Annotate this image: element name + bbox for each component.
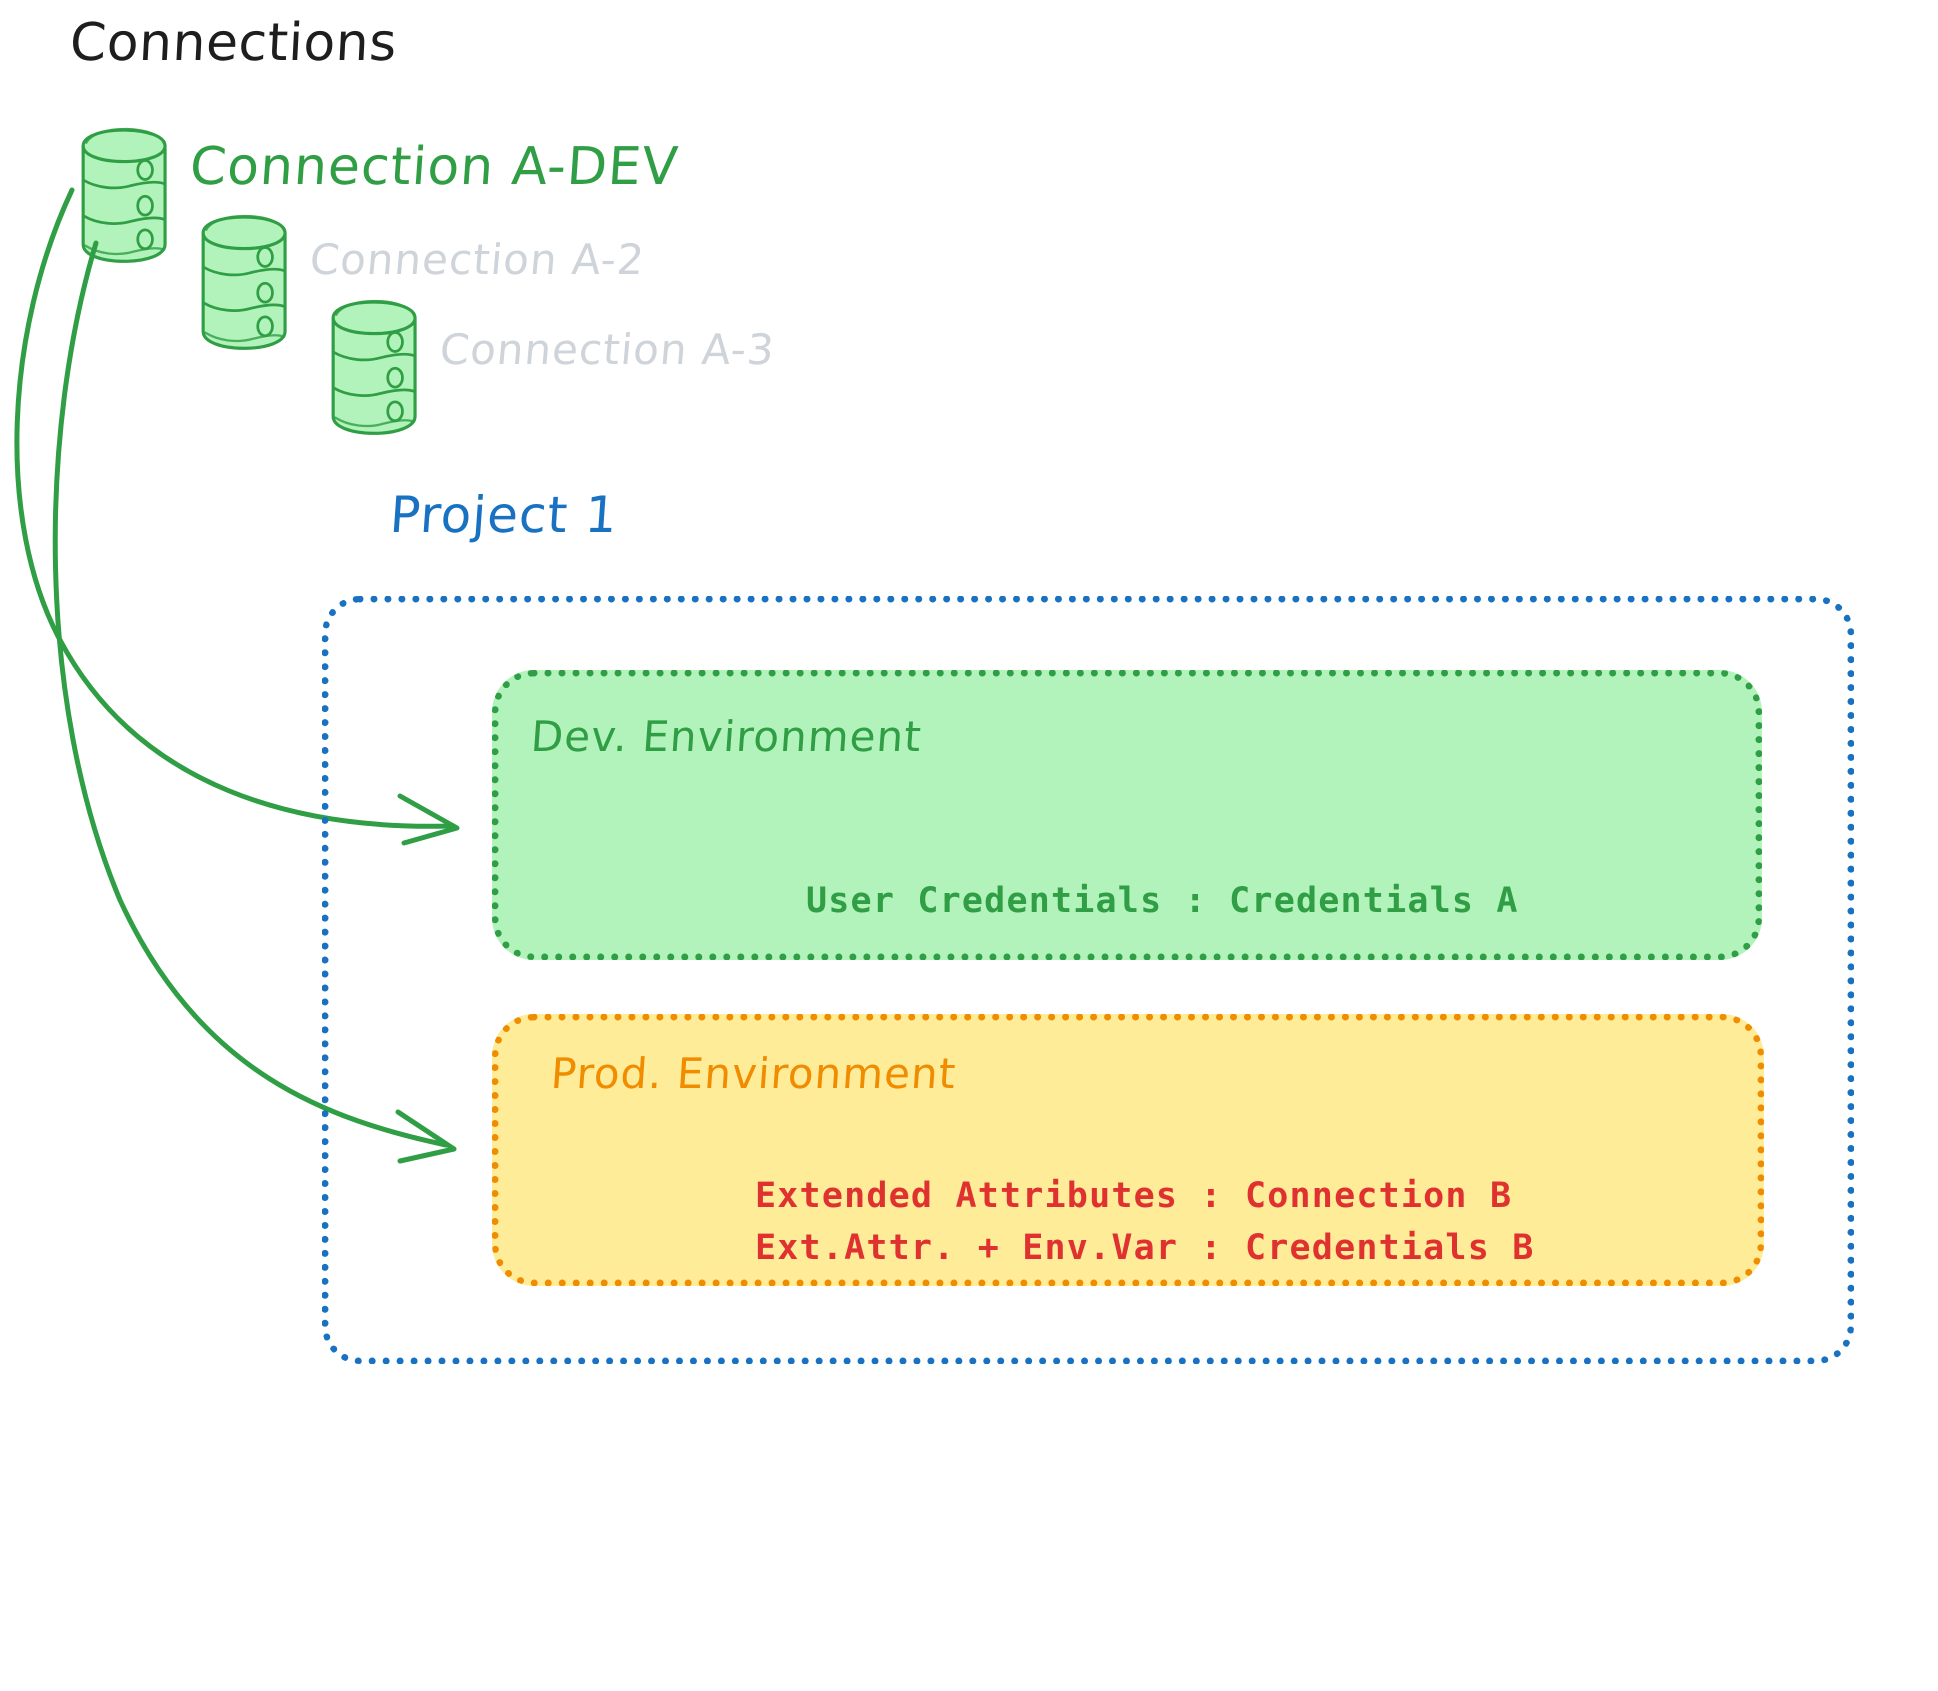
- connection-label-a-3: Connection A-3: [438, 326, 777, 374]
- connection-label-a-2: Connection A-2: [308, 236, 647, 284]
- page-title: Connections: [68, 14, 398, 74]
- project-title: Project 1: [388, 487, 620, 545]
- dev-environment-title: Dev. Environment: [529, 713, 923, 761]
- prod-environment-entry-extended-attributes: Extended Attributes : Connection B: [755, 1176, 1512, 1216]
- prod-environment-entry-ext-attr-env-var: Ext.Attr. + Env.Var : Credentials B: [755, 1228, 1535, 1268]
- database-icon-connection-a-3[interactable]: [333, 301, 415, 433]
- prod-environment-title: Prod. Environment: [549, 1050, 958, 1098]
- database-icon-connection-a-2[interactable]: [203, 216, 285, 348]
- connection-label-a-dev: Connection A-DEV: [188, 138, 681, 198]
- dev-environment-entry-user-credentials: User Credentials : Credentials A: [806, 881, 1519, 921]
